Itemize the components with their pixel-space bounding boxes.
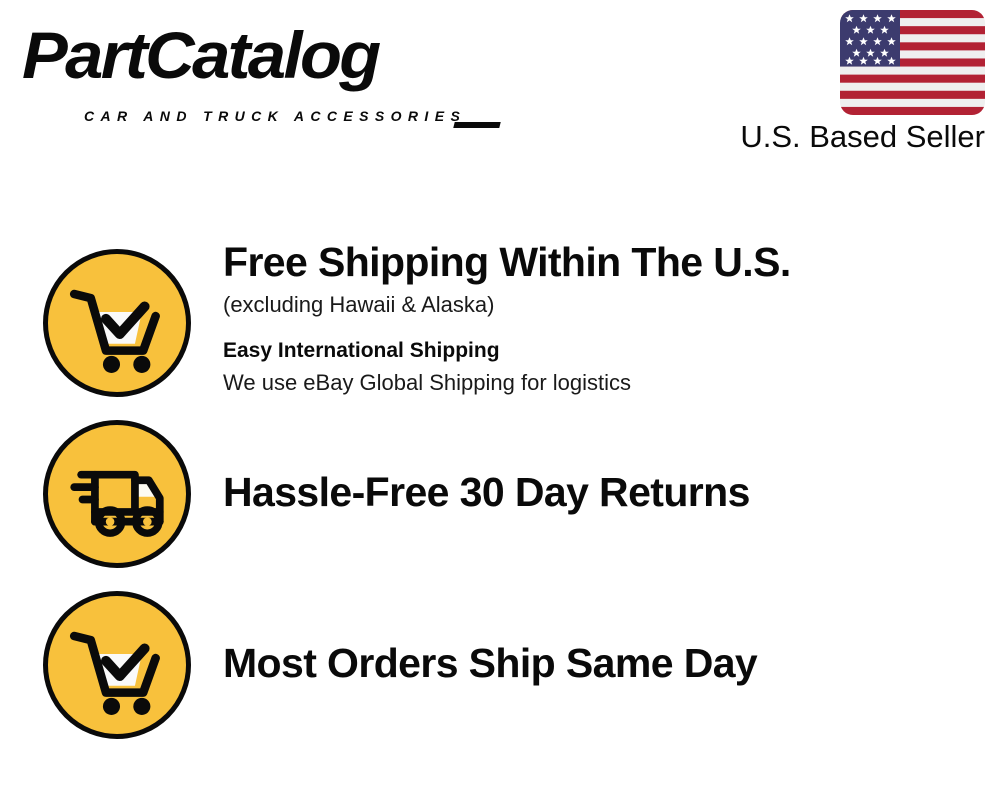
delivery-truck-icon	[43, 420, 191, 568]
shopping-cart-check-icon	[43, 591, 191, 739]
brand-tagline-rule	[453, 122, 500, 128]
us-based-seller-label: U.S. Based Seller	[740, 118, 985, 156]
header-banner: PartCatalog CAR AND TRUCK ACCESSORIES	[0, 0, 1000, 170]
feature-row: Most Orders Ship Same Day	[0, 591, 1000, 741]
brand-tagline: CAR AND TRUCK ACCESSORIES	[84, 108, 466, 124]
feature-text-block: Most Orders Ship Same Day	[223, 639, 983, 687]
feature-text-block: Hassle-Free 30 Day Returns	[223, 468, 983, 516]
feature-text-block: Free Shipping Within The U.S. (excluding…	[223, 240, 983, 398]
us-flag-icon	[840, 10, 985, 115]
feature-row: Hassle-Free 30 Day Returns	[0, 420, 1000, 570]
feature-subdetail: We use eBay Global Shipping for logistic…	[223, 368, 983, 398]
feature-exclusion-note: (excluding Hawaii & Alaska)	[223, 290, 983, 320]
feature-title: Hassle-Free 30 Day Returns	[223, 468, 983, 516]
brand-wordmark: PartCatalog	[22, 18, 379, 92]
feature-title: Free Shipping Within The U.S.	[223, 238, 983, 286]
brand-logo: PartCatalog CAR AND TRUCK ACCESSORIES	[22, 18, 502, 118]
feature-subheading: Easy International Shipping	[223, 336, 983, 366]
feature-row: Free Shipping Within The U.S. (excluding…	[0, 240, 1000, 410]
feature-title: Most Orders Ship Same Day	[223, 639, 983, 687]
shopping-cart-check-icon	[43, 249, 191, 397]
